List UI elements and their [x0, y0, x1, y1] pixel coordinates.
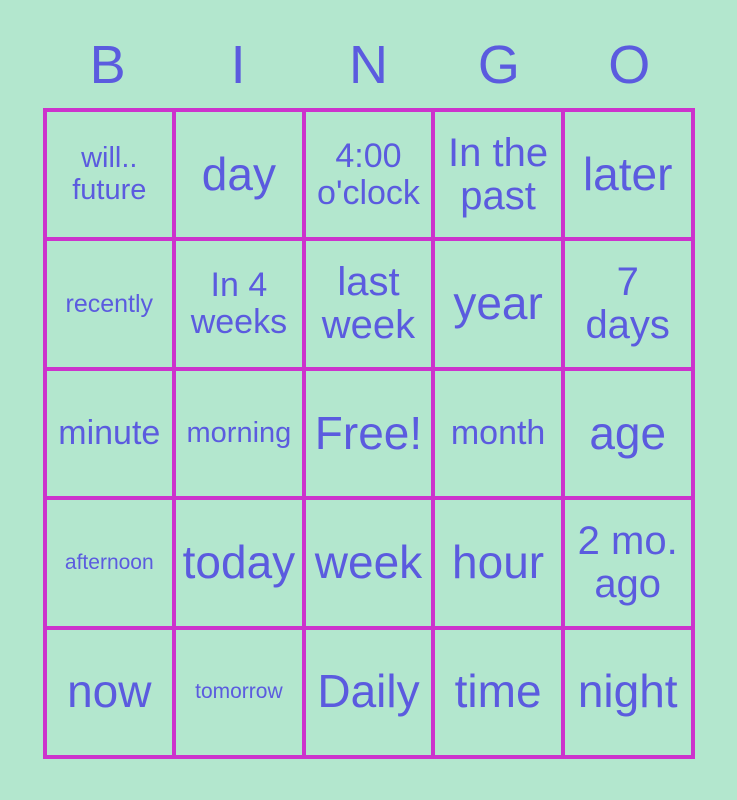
- bingo-cell[interactable]: recently: [47, 241, 177, 370]
- bingo-cell[interactable]: later: [565, 112, 695, 241]
- bingo-cell[interactable]: today: [176, 500, 306, 629]
- bingo-card: B I N G O will.. futureday4:00 o'clockIn…: [0, 0, 737, 800]
- bingo-cell[interactable]: will.. future: [47, 112, 177, 241]
- bingo-cell-label: night: [569, 667, 687, 717]
- bingo-header-letter-b: B: [90, 34, 126, 96]
- bingo-cell[interactable]: Free!: [306, 371, 436, 500]
- bingo-header-letter-n: N: [349, 34, 388, 96]
- bingo-cell-label: today: [180, 538, 298, 588]
- bingo-cell[interactable]: minute: [47, 371, 177, 500]
- bingo-cell-label: 4:00 o'clock: [310, 138, 428, 211]
- bingo-cell[interactable]: month: [435, 371, 565, 500]
- bingo-cell-label: morning: [180, 418, 298, 449]
- bingo-header-letter-i: I: [231, 34, 246, 96]
- bingo-cell[interactable]: morning: [176, 371, 306, 500]
- bingo-cell[interactable]: 4:00 o'clock: [306, 112, 436, 241]
- bingo-cell[interactable]: day: [176, 112, 306, 241]
- bingo-free-space-label: Free!: [310, 409, 428, 459]
- bingo-cell-label: age: [569, 409, 687, 459]
- bingo-cell-label: day: [180, 150, 298, 200]
- bingo-cell[interactable]: 7 days: [565, 241, 695, 370]
- bingo-cell-label: Daily: [310, 667, 428, 717]
- bingo-cell-label: recently: [51, 291, 169, 318]
- bingo-cell[interactable]: Daily: [306, 630, 436, 759]
- bingo-cell-label: 2 mo. ago: [569, 520, 687, 606]
- bingo-cell-label: afternoon: [51, 552, 169, 575]
- bingo-cell[interactable]: now: [47, 630, 177, 759]
- bingo-cell[interactable]: tomorrow: [176, 630, 306, 759]
- bingo-cell-label: later: [569, 150, 687, 200]
- bingo-cell-label: In the past: [439, 132, 557, 218]
- bingo-cell[interactable]: age: [565, 371, 695, 500]
- bingo-header-letter-g: G: [478, 34, 520, 96]
- bingo-cell[interactable]: night: [565, 630, 695, 759]
- bingo-cell-label: week: [310, 538, 428, 588]
- bingo-cell[interactable]: hour: [435, 500, 565, 629]
- bingo-cell[interactable]: year: [435, 241, 565, 370]
- bingo-cell[interactable]: 2 mo. ago: [565, 500, 695, 629]
- bingo-cell-label: 7 days: [569, 261, 687, 347]
- bingo-cell[interactable]: time: [435, 630, 565, 759]
- bingo-cell-label: time: [439, 667, 557, 717]
- bingo-cell-label: hour: [439, 538, 557, 588]
- bingo-cell-label: will.. future: [51, 143, 169, 206]
- bingo-header-row: B I N G O: [43, 34, 695, 96]
- bingo-cell-label: tomorrow: [180, 681, 298, 704]
- bingo-cell-label: last week: [310, 261, 428, 347]
- bingo-cell-label: In 4 weeks: [180, 267, 298, 340]
- bingo-cell[interactable]: In 4 weeks: [176, 241, 306, 370]
- bingo-cell-label: now: [51, 667, 169, 717]
- bingo-cell[interactable]: last week: [306, 241, 436, 370]
- bingo-grid: will.. futureday4:00 o'clockIn the pastl…: [43, 108, 695, 759]
- bingo-cell[interactable]: week: [306, 500, 436, 629]
- bingo-cell-label: minute: [51, 415, 169, 452]
- bingo-cell[interactable]: In the past: [435, 112, 565, 241]
- bingo-cell-label: month: [439, 415, 557, 452]
- bingo-cell[interactable]: afternoon: [47, 500, 177, 629]
- bingo-cell-label: year: [439, 279, 557, 329]
- bingo-header-letter-o: O: [608, 34, 650, 96]
